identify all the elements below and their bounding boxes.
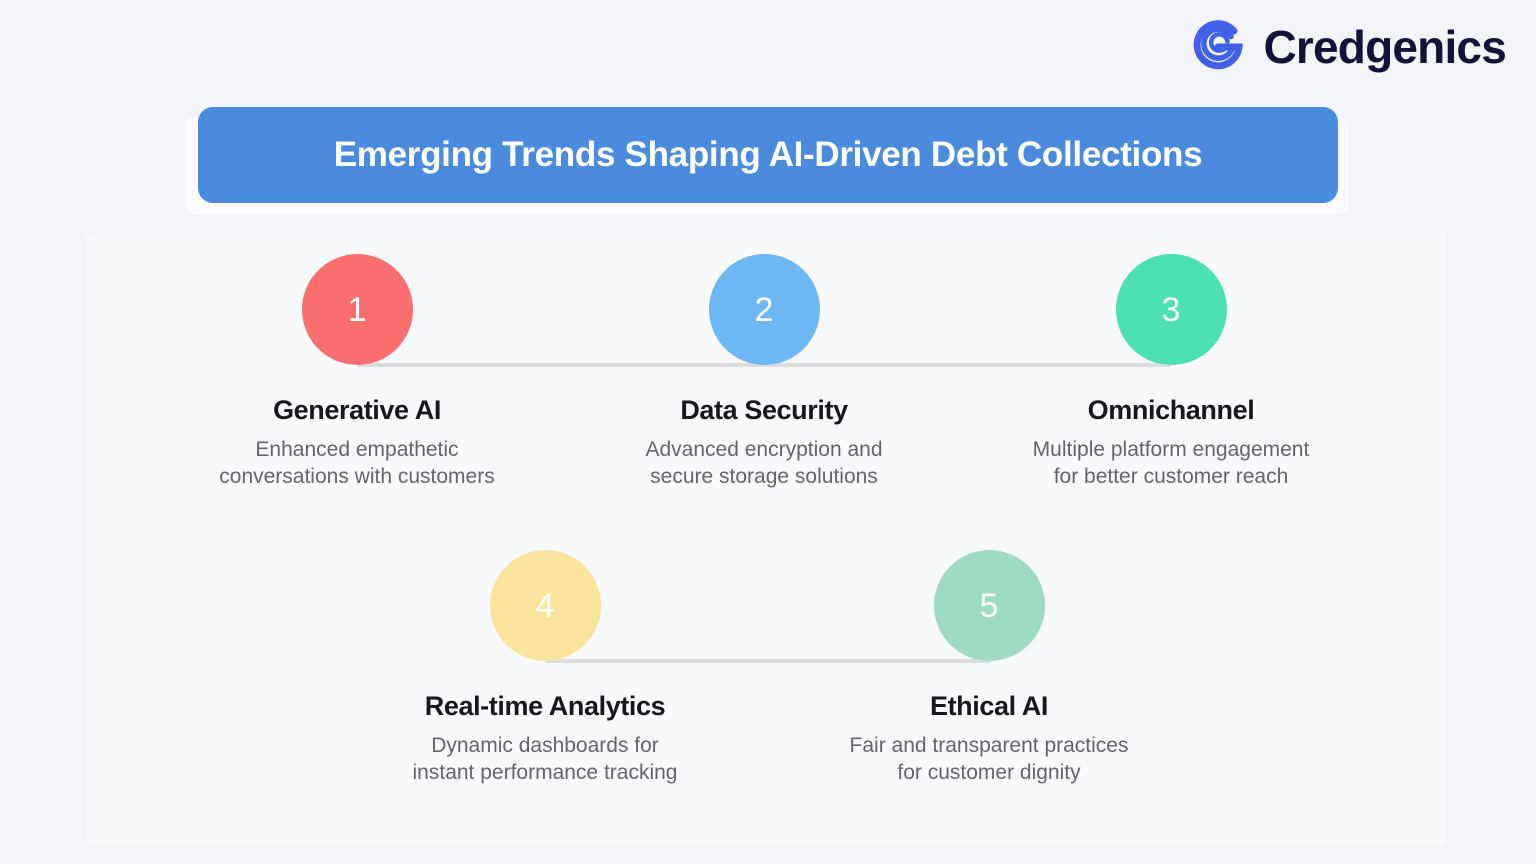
- step-title-5: Ethical AI: [839, 690, 1139, 722]
- content-panel: 1 Generative AI Enhanced empathetic conv…: [87, 233, 1446, 845]
- step-title-4: Real-time Analytics: [395, 690, 695, 722]
- step-number-1: 1: [348, 293, 367, 327]
- step-item-2[interactable]: 2 Data Security Advanced encryption and …: [614, 233, 914, 490]
- brand-wordmark: Credgenics: [1263, 24, 1506, 70]
- step-badge-5[interactable]: 5: [934, 550, 1045, 661]
- step-badge-4[interactable]: 4: [490, 550, 601, 661]
- infographic-canvas: Credgenics Emerging Trends Shaping AI-Dr…: [0, 0, 1536, 864]
- step-title-3: Omnichannel: [1021, 394, 1321, 426]
- step-item-5[interactable]: 5 Ethical AI Fair and transparent practi…: [839, 529, 1139, 786]
- step-item-3[interactable]: 3 Omnichannel Multiple platform engageme…: [1021, 233, 1321, 490]
- title-banner: Emerging Trends Shaping AI-Driven Debt C…: [198, 107, 1338, 203]
- step-item-1[interactable]: 1 Generative AI Enhanced empathetic conv…: [207, 233, 507, 490]
- step-number-5: 5: [980, 589, 999, 623]
- step-badge-2[interactable]: 2: [709, 254, 820, 365]
- step-description-3: Multiple platform engagement for better …: [1021, 437, 1321, 490]
- brand-logo: Credgenics: [1187, 16, 1506, 78]
- step-title-2: Data Security: [614, 394, 914, 426]
- step-title-1: Generative AI: [207, 394, 507, 426]
- step-description-2: Advanced encryption and secure storage s…: [614, 437, 914, 490]
- step-description-5: Fair and transparent practices for custo…: [839, 733, 1139, 786]
- step-badge-3[interactable]: 3: [1116, 254, 1227, 365]
- step-item-4[interactable]: 4 Real-time Analytics Dynamic dashboards…: [395, 529, 695, 786]
- page-title: Emerging Trends Shaping AI-Driven Debt C…: [334, 135, 1203, 175]
- step-number-4: 4: [536, 589, 555, 623]
- step-badge-1[interactable]: 1: [302, 254, 413, 365]
- step-description-4: Dynamic dashboards for instant performan…: [395, 733, 695, 786]
- step-number-2: 2: [755, 293, 774, 327]
- step-description-1: Enhanced empathetic conversations with c…: [207, 437, 507, 490]
- step-number-3: 3: [1162, 293, 1181, 327]
- credgenics-spiral-g-icon: [1187, 16, 1249, 78]
